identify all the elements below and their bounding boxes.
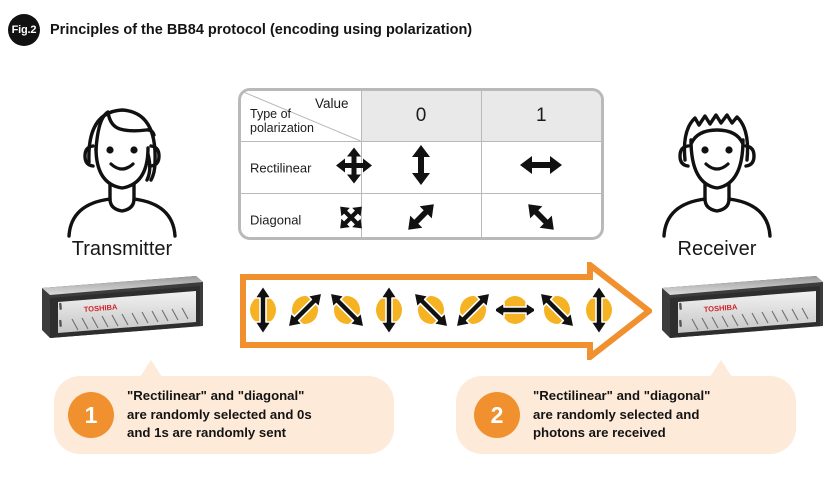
- transmitter-device-icon: TOSHIBA: [28, 268, 208, 353]
- callout-1-line-3: and 1s are randomly sent: [127, 424, 312, 443]
- callout-1-tail: [140, 360, 162, 377]
- photon-6: [454, 283, 492, 337]
- receiver-label: Receiver: [617, 238, 817, 261]
- row-label-rectilinear: Rectilinear: [241, 142, 361, 194]
- figure-number-badge: Fig.2: [8, 14, 40, 46]
- callout-1-number: 1: [68, 392, 114, 438]
- photon-3: [328, 283, 366, 337]
- figure-title: Principles of the BB84 protocol (encodin…: [50, 22, 472, 38]
- row-label-text: Diagonal: [250, 212, 301, 227]
- vertical-double-arrow-icon: [408, 144, 434, 191]
- table-corner-cell: Value Type of polarization: [241, 91, 361, 142]
- callout-2-line-2: are randomly selected and: [533, 406, 710, 425]
- table-header-value-0: 0: [361, 91, 481, 142]
- cell-rectilinear-0: [361, 142, 481, 194]
- photon-stream: [244, 283, 594, 337]
- table-row-header-label: Type of polarization: [250, 107, 314, 137]
- cross-four-way-arrow-icon: [334, 145, 374, 190]
- row-label-text: Rectilinear: [250, 160, 311, 175]
- table-col-header-label: Value: [315, 96, 349, 111]
- callout-step-2: 2 "Rectilinear" and "diagonal" are rando…: [456, 376, 796, 454]
- polarization-table: Value Type of polarization 0 1 Rectiline…: [238, 88, 604, 240]
- receiver-person-icon: [657, 88, 777, 243]
- photon-9: [580, 283, 618, 337]
- cell-diagonal-1: [481, 194, 601, 241]
- table-row-rectilinear: Rectilinear: [241, 142, 601, 194]
- x-four-way-arrow-icon: [334, 200, 368, 239]
- horizontal-double-arrow-icon: [519, 152, 563, 183]
- callout-2-tail: [710, 360, 732, 377]
- photon-7: [496, 283, 534, 337]
- row-header-line-1: Type of: [250, 107, 314, 122]
- cell-diagonal-0: [361, 194, 481, 241]
- diagonal-down-double-arrow-icon: [521, 197, 561, 240]
- photon-1: [244, 283, 282, 337]
- transmitter-person-icon: [62, 88, 182, 243]
- row-label-diagonal: Diagonal: [241, 194, 361, 241]
- callout-2-number: 2: [474, 392, 520, 438]
- callout-2-line-3: photons are received: [533, 424, 710, 443]
- diagonal-up-double-arrow-icon: [401, 197, 441, 240]
- photon-2: [286, 283, 324, 337]
- figure-canvas: Fig.2 Principles of the BB84 protocol (e…: [0, 0, 840, 500]
- photon-5: [412, 283, 450, 337]
- photon-4: [370, 283, 408, 337]
- callout-2-text: "Rectilinear" and "diagonal" are randoml…: [533, 387, 710, 443]
- receiver-device-icon: TOSHIBA: [648, 268, 828, 353]
- callout-2-line-1: "Rectilinear" and "diagonal": [533, 387, 710, 406]
- table-header-row: Value Type of polarization 0 1: [241, 91, 601, 142]
- callout-1-text: "Rectilinear" and "diagonal" are randoml…: [127, 387, 312, 443]
- callout-1-line-1: "Rectilinear" and "diagonal": [127, 387, 312, 406]
- figure-header: Fig.2 Principles of the BB84 protocol (e…: [8, 14, 472, 46]
- row-header-line-2: polarization: [250, 121, 314, 136]
- callout-step-1: 1 "Rectilinear" and "diagonal" are rando…: [54, 376, 394, 454]
- table-row-diagonal: Diagonal: [241, 194, 601, 241]
- cell-rectilinear-1: [481, 142, 601, 194]
- table-header-value-1: 1: [481, 91, 601, 142]
- photon-8: [538, 283, 576, 337]
- callout-1-line-2: are randomly selected and 0s: [127, 406, 312, 425]
- transmitter-label: Transmitter: [22, 238, 222, 261]
